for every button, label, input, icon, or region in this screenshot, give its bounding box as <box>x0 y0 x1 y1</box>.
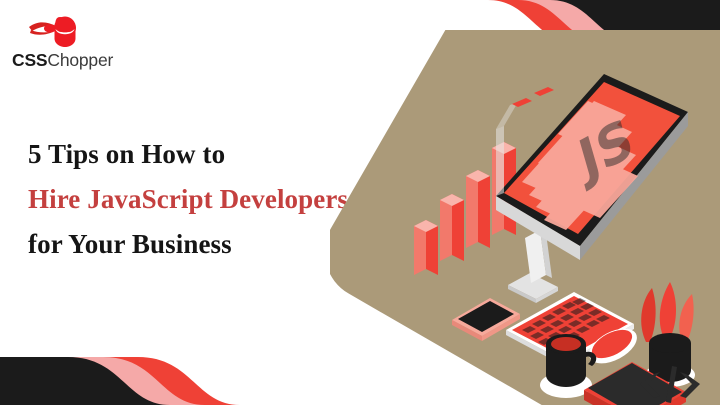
brand-name-bold: CSS <box>12 50 47 70</box>
brand-wordmark: CSSChopper <box>12 50 132 70</box>
desk-illustration: JS <box>330 30 720 405</box>
brand-logo[interactable]: CSSChopper <box>12 14 132 76</box>
ninja-head-icon <box>28 14 90 48</box>
brand-name-regular: Chopper <box>47 50 113 70</box>
decor-wave-bottom-left <box>0 330 300 405</box>
slide-canvas: CSSChopper 5 Tips on How to Hire JavaScr… <box>0 0 720 405</box>
